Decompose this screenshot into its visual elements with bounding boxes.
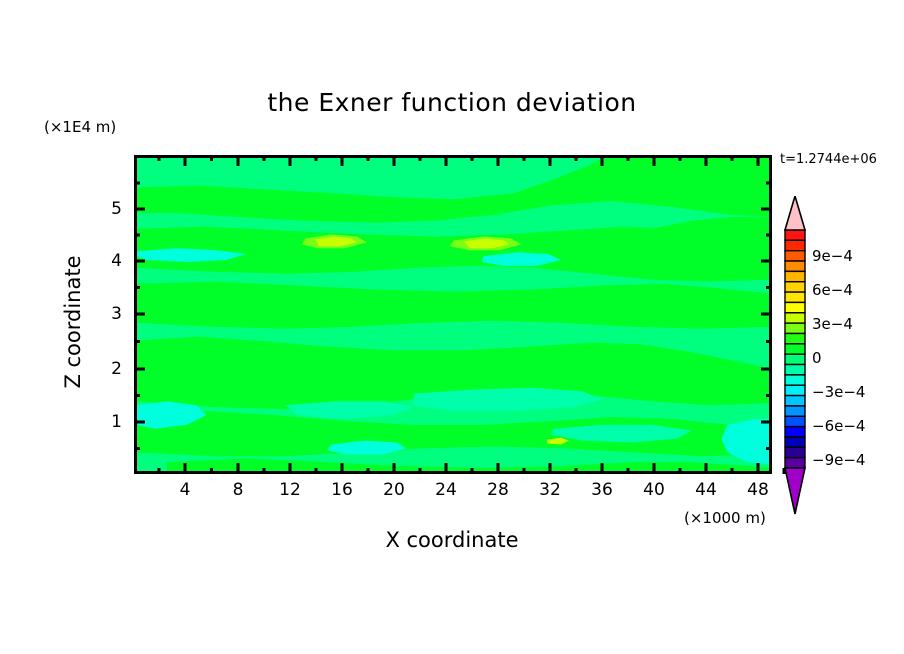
colorbar-band — [785, 458, 805, 468]
colorbar-cap-low — [785, 468, 805, 514]
colorbar-band — [785, 354, 805, 364]
colorbar-band — [785, 437, 805, 447]
colorbar-tick-label: −9e−4 — [812, 451, 865, 469]
colorbar-tick-label: −3e−4 — [812, 383, 865, 401]
colorbar-band — [785, 323, 805, 333]
colorbar-band — [785, 313, 805, 323]
colorbar-band — [785, 365, 805, 375]
colorbar-cap-high — [785, 196, 805, 230]
colorbar-tick-label: 3e−4 — [812, 315, 853, 333]
colorbar-band — [785, 261, 805, 271]
colorbar-band — [785, 251, 805, 261]
colorbar-band — [785, 447, 805, 457]
colorbar — [782, 196, 808, 516]
colorbar-band — [785, 406, 805, 416]
colorbar-tick-label: 0 — [812, 349, 822, 367]
colorbar-band — [785, 344, 805, 354]
colorbar-band — [785, 292, 805, 302]
colorbar-band — [785, 333, 805, 343]
colorbar-band — [785, 230, 805, 240]
colorbar-band — [785, 271, 805, 281]
colorbar-tick-label: −6e−4 — [812, 417, 865, 435]
colorbar-tick-label: 6e−4 — [812, 281, 853, 299]
colorbar-band — [785, 396, 805, 406]
colorbar-band — [785, 427, 805, 437]
colorbar-gradient — [782, 196, 808, 516]
colorbar-band — [785, 240, 805, 250]
colorbar-band — [785, 416, 805, 426]
colorbar-band — [785, 302, 805, 312]
colorbar-tick-label: 9e−4 — [812, 247, 853, 265]
colorbar-band — [785, 385, 805, 395]
axis-tickmarks — [0, 0, 904, 654]
colorbar-band — [785, 282, 805, 292]
colorbar-band — [785, 375, 805, 385]
